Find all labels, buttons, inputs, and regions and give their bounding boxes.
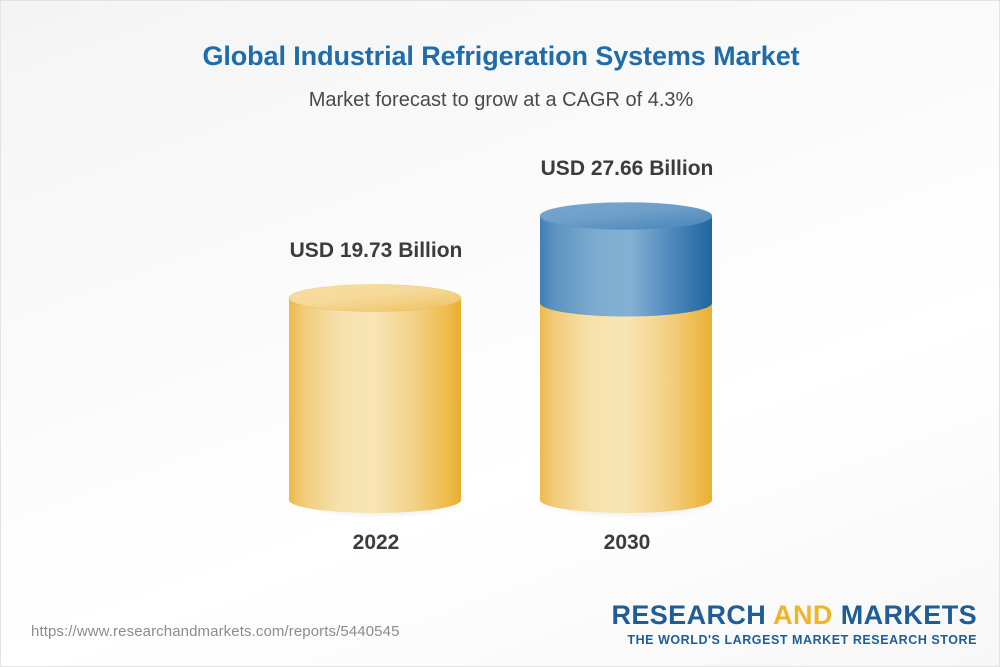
logo-word-research: RESEARCH: [611, 600, 773, 630]
logo-word-markets: MARKETS: [833, 600, 977, 630]
source-url-link[interactable]: https://www.researchandmarkets.com/repor…: [31, 623, 400, 640]
brand-logo[interactable]: RESEARCH AND MARKETS THE WORLD'S LARGEST…: [611, 602, 977, 647]
bar-2030: USD 27.66 Billion 2030: [535, 197, 719, 521]
chart-plot-area: USD 19.73 Billion 2022: [1, 1, 1000, 667]
bar-2030-value-label: USD 27.66 Billion: [450, 157, 804, 181]
bar-2030-cylinder: [535, 197, 719, 521]
bar-2030-category-label: 2030: [450, 531, 804, 555]
logo-wordmark: RESEARCH AND MARKETS: [611, 602, 977, 629]
bar-2022: USD 19.73 Billion 2022: [284, 279, 468, 521]
bar-2022-cylinder: [284, 279, 468, 521]
bar-2022-value-label: USD 19.73 Billion: [199, 239, 553, 263]
logo-word-and: AND: [773, 600, 833, 630]
chart-canvas: Global Industrial Refrigeration Systems …: [0, 0, 1000, 667]
logo-tagline: THE WORLD'S LARGEST MARKET RESEARCH STOR…: [611, 634, 977, 647]
